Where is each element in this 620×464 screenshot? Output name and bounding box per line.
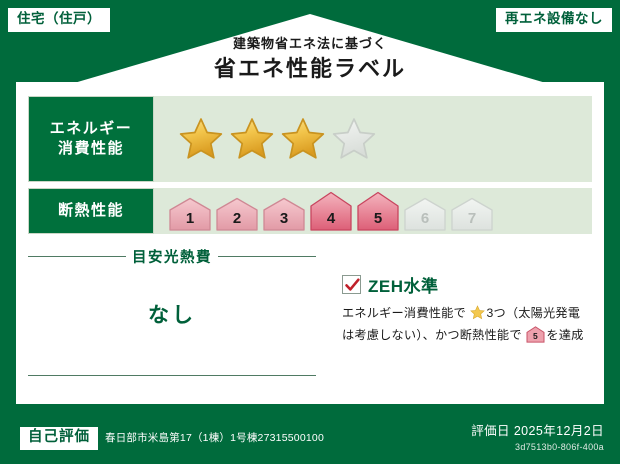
row-value-energy-performance [154,96,592,182]
tag-renewable-equipment: 再エネ設備なし [496,8,612,32]
house-badge-icon [309,191,353,231]
divider-left [28,256,126,257]
label-content: エネルギー 消費性能 断熱性能 1234567 目安光熱費 [28,96,592,396]
self-evaluation-badge: 自己評価 [20,427,98,450]
insulation-badge-achieved: 2 [215,197,259,231]
star-icon-empty [331,116,377,162]
zeh-desc-star-count: 3つ（太陽光発電 [486,306,580,320]
row-label-insulation-line1: 断熱性能 [58,201,124,221]
house-badge-icon [356,191,400,231]
svg-text:5: 5 [533,331,538,341]
label-title-block: 建築物省エネ法に基づく 省エネ性能ラベル [0,36,620,83]
zeh-description: エネルギー消費性能で 3つ（太陽光発電 は考慮しない）、かつ断熱性能で 5 を達… [342,304,592,349]
zeh-header: ZEH水準 [342,272,592,297]
star-icon-filled [280,116,326,162]
insulation-badge-achieved: 3 [262,197,306,231]
title-subtitle: 建築物省エネ法に基づく [0,36,620,52]
house-badge-icon [450,197,494,231]
row-label-insulation-performance: 断熱性能 [28,188,154,234]
house-badge-icon [215,197,259,231]
zeh-panel: ZEH水準 エネルギー消費性能で 3つ（太陽光発電 は考慮しない）、かつ断熱性能… [328,242,592,392]
insulation-badge-inactive: 6 [403,197,447,231]
row-label-energy-line2: 消費性能 [58,139,124,159]
zeh-title: ZEH水準 [368,272,439,297]
divider-right [218,256,316,257]
insulation-badge-achieved: 1 [168,197,212,231]
row-insulation-performance: 断熱性能 1234567 [28,188,592,234]
insulation-badge-achieved: 4 [309,191,353,231]
utility-cost-value: なし [28,299,316,329]
lower-section: 目安光熱費 なし ZEH水準 エネルギー消費性能で [28,242,592,392]
zeh-desc-part1: エネルギー消費性能で [342,306,466,320]
star-rating [164,116,377,162]
house-badge-icon-inline: 5 [523,332,546,346]
footer-right-group: 評価日 2025年12月2日 3d7513b0-806f-400a [471,420,604,452]
zeh-desc-part3: を達成 [546,328,583,342]
row-label-energy-line1: エネルギー [50,119,133,139]
house-badge-icon [168,197,212,231]
insulation-badge-inactive: 7 [450,197,494,231]
star-icon-filled [178,116,224,162]
zeh-desc-part2: は考慮しない）、かつ断熱性能で [342,328,522,342]
energy-performance-label: 住宅（住戸） 再エネ設備なし 建築物省エネ法に基づく 省エネ性能ラベル エネルギ… [0,0,620,464]
checkmark-icon [342,275,361,294]
title-main: 省エネ性能ラベル [0,54,620,84]
utility-cost-title: 目安光熱費 [132,246,212,267]
tag-dwelling-type: 住宅（住戸） [8,8,110,32]
divider-bottom [28,375,316,376]
evaluation-date: 評価日 2025年12月2日 [471,420,604,439]
star-icon-filled [229,116,275,162]
row-energy-performance: エネルギー 消費性能 [28,96,592,182]
utility-cost-header: 目安光熱費 [28,246,316,267]
row-value-insulation-performance: 1234567 [154,188,592,234]
utility-cost-panel: 目安光熱費 なし [28,242,328,392]
document-id: 3d7513b0-806f-400a [471,442,604,452]
property-address: 春日部市米島第17（1棟）1号棟27315500100 [105,430,324,445]
footer-left-group: 自己評価 春日部市米島第17（1棟）1号棟27315500100 [20,427,324,450]
insulation-badge-achieved: 5 [356,191,400,231]
star-icon-inline [467,309,486,323]
label-footer: 自己評価 春日部市米島第17（1棟）1号棟27315500100 評価日 202… [0,404,620,464]
house-badge-icon [262,197,306,231]
house-badge-icon [403,197,447,231]
insulation-level-scale: 1234567 [164,191,494,231]
row-label-energy-performance: エネルギー 消費性能 [28,96,154,182]
